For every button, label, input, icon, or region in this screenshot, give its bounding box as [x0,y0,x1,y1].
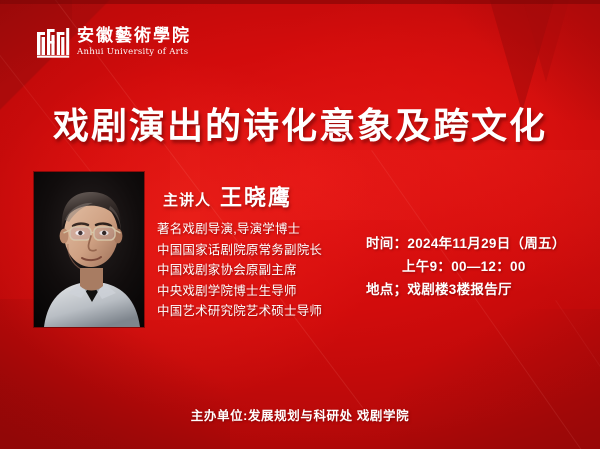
poster-title: 戏剧演出的诗化意象及跨文化 [0,97,600,149]
speaker-heading: 主讲人 王晓鹰 [163,180,292,212]
event-time-line: 时间：2024年11月29日（周五） [366,232,566,255]
speaker-name: 王晓鹰 [220,180,292,212]
top-edge-band [0,0,600,4]
university-name-en: Anhui University of Arts [77,48,191,57]
university-logo: 安徽藝術學院 Anhui University of Arts [36,26,191,58]
credential-item: 中国国家话剧院原常务副院长 [157,240,377,261]
event-details: 时间：2024年11月29日（周五） 上午9：00—12：00 地点；戏剧楼3楼… [366,232,566,301]
credential-item: 中国艺术研究院艺术硕士导师 [157,301,377,322]
event-time-range: 上午9：00—12：00 [366,255,566,278]
portrait-illustration [34,172,144,327]
background-wedge-top-right-secondary [520,0,572,82]
anhui-arts-seal-mark-icon [36,26,70,58]
university-name-cn: 安徽藝術學院 [77,28,191,45]
credential-item: 中央戏剧学院博士生导师 [157,281,377,302]
credential-item: 中国戏剧家协会原副主席 [157,260,377,281]
speaker-label: 主讲人 [163,189,211,210]
organizer-footer: 主办单位:发展规划与科研处 戏剧学院 [0,405,600,424]
background-corner-bottom-right [390,309,600,449]
speaker-portrait-photo [34,172,144,327]
lecture-poster: 安徽藝術學院 Anhui University of Arts 戏剧演出的诗化意… [0,0,600,449]
event-location: 地点；戏剧楼3楼报告厅 [366,278,566,301]
credential-item: 著名戏剧导演,导演学博士 [157,219,377,240]
university-logo-text: 安徽藝術學院 Anhui University of Arts [77,28,191,57]
speaker-credentials: 著名戏剧导演,导演学博士 中国国家话剧院原常务副院长 中国戏剧家协会原副主席 中… [157,219,377,322]
